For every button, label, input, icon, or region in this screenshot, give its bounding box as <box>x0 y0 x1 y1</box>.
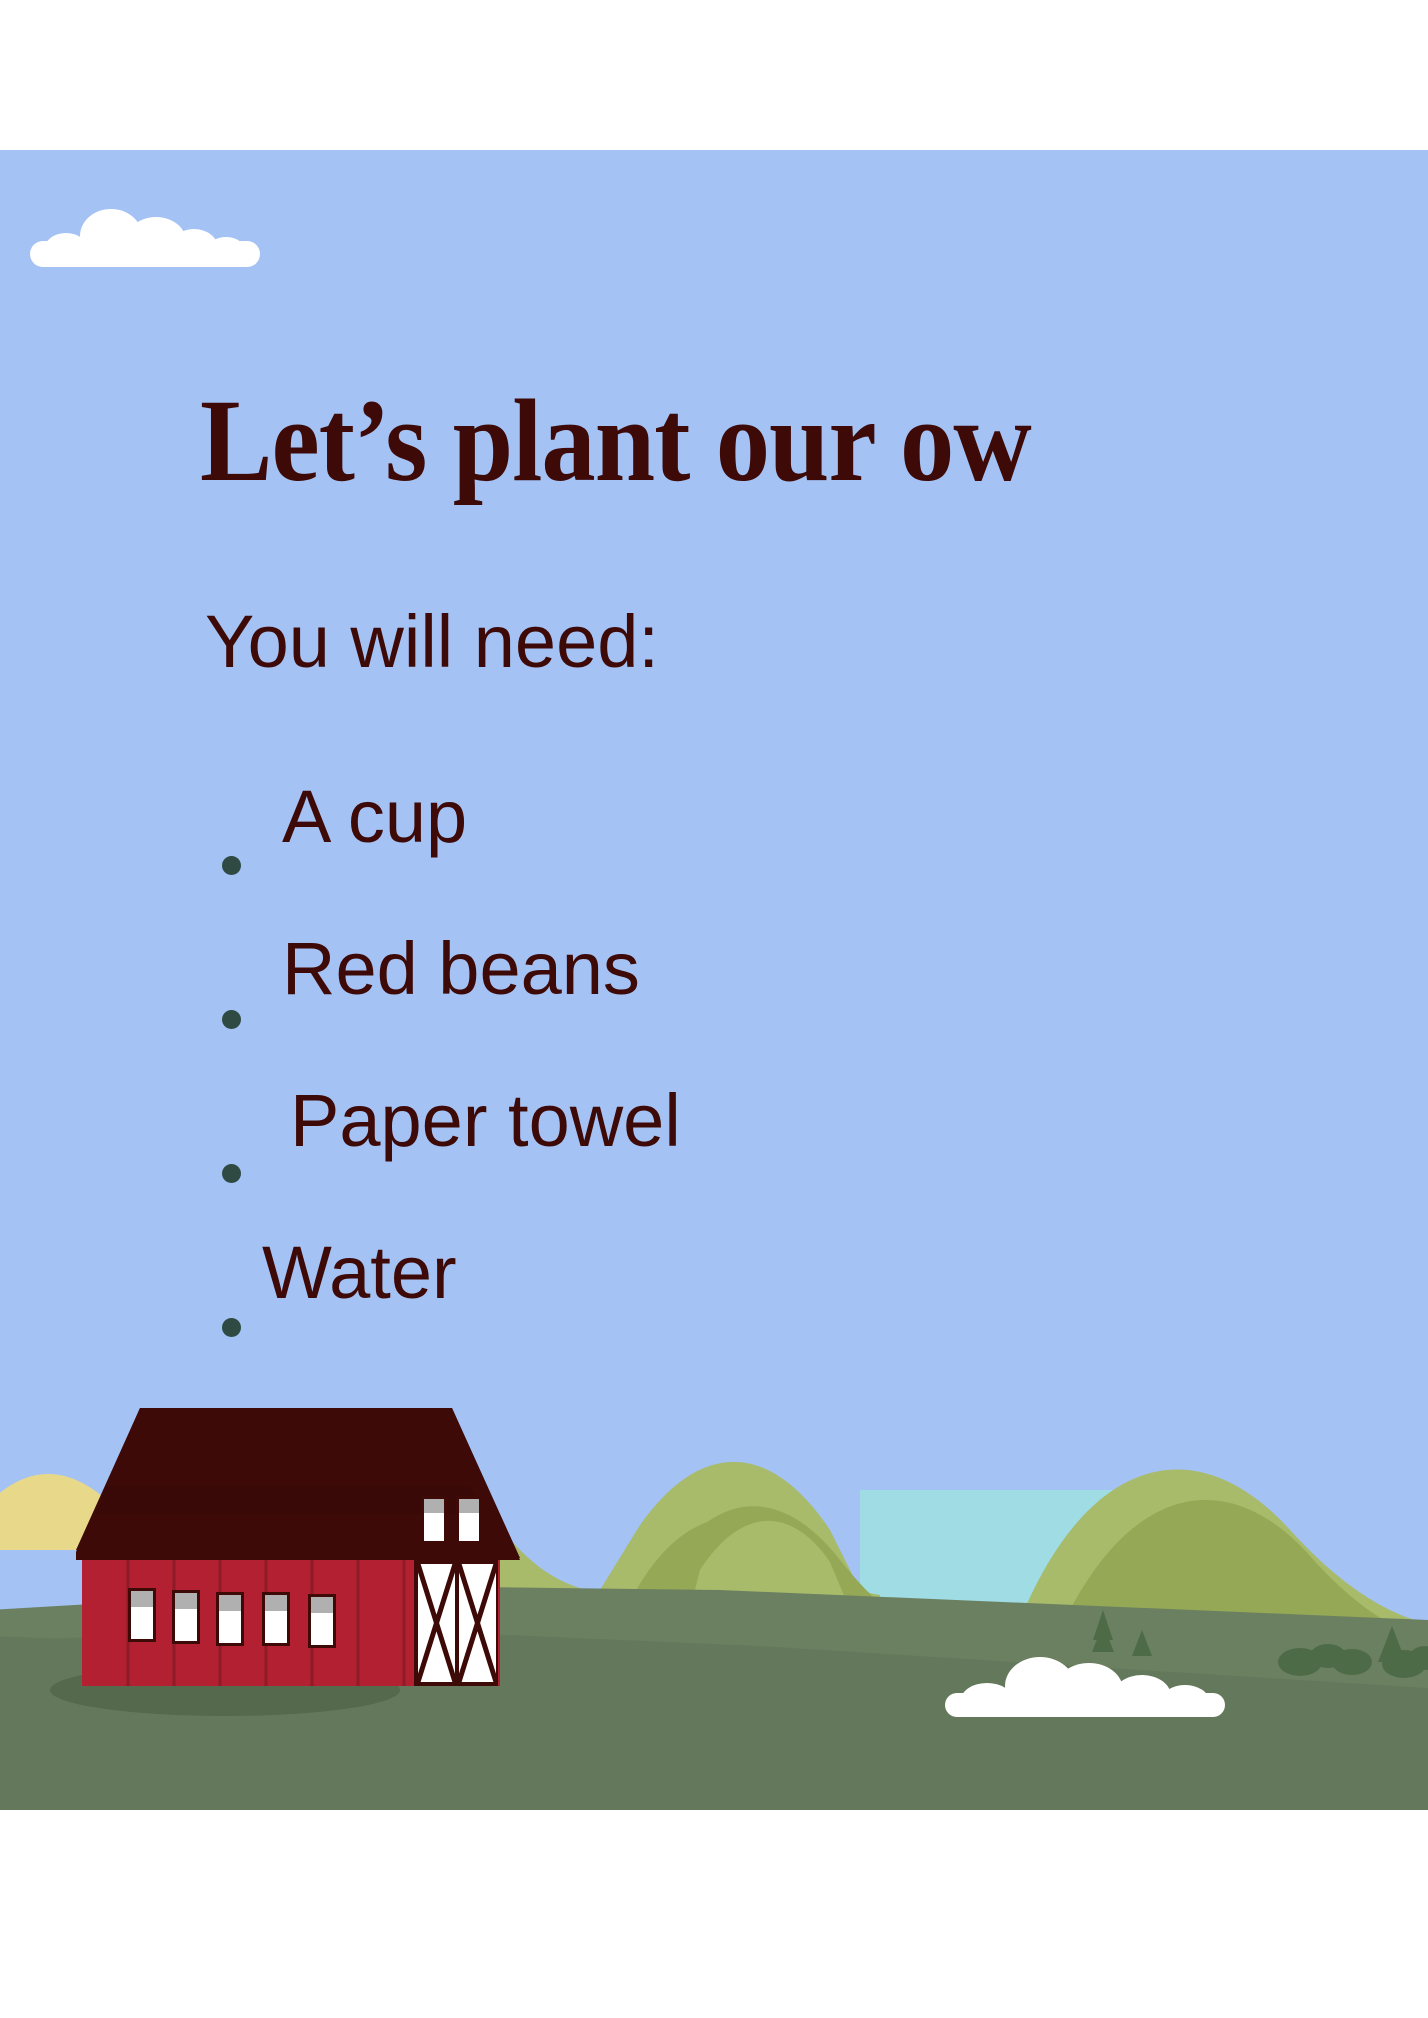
slide-title: Let’s plant our ow <box>200 382 1428 500</box>
list-item-label: Water <box>262 1236 457 1310</box>
list-item-label: Paper towel <box>290 1084 681 1158</box>
cloud-icon-left <box>30 205 260 265</box>
list-item: Water <box>200 1236 1100 1388</box>
list-item: Red beans <box>200 932 1100 1084</box>
cloud-icon-right <box>945 1655 1225 1717</box>
slide-canvas: Let’s plant our ow You will need: A cup … <box>0 150 1428 1810</box>
bullet-dot-icon <box>222 1318 241 1337</box>
materials-list: A cup Red beans Paper towel Water <box>200 780 1100 1388</box>
barn-icon <box>76 1408 520 1686</box>
bullet-dot-icon <box>222 856 241 875</box>
list-item: Paper towel <box>200 1084 1100 1236</box>
list-item-label: A cup <box>282 780 467 854</box>
bullet-dot-icon <box>222 1164 241 1183</box>
bullet-dot-icon <box>222 1010 241 1029</box>
slide-subtitle: You will need: <box>205 605 659 679</box>
list-item: A cup <box>200 780 1100 932</box>
list-item-label: Red beans <box>282 932 640 1006</box>
barn-doors <box>414 1560 498 1686</box>
